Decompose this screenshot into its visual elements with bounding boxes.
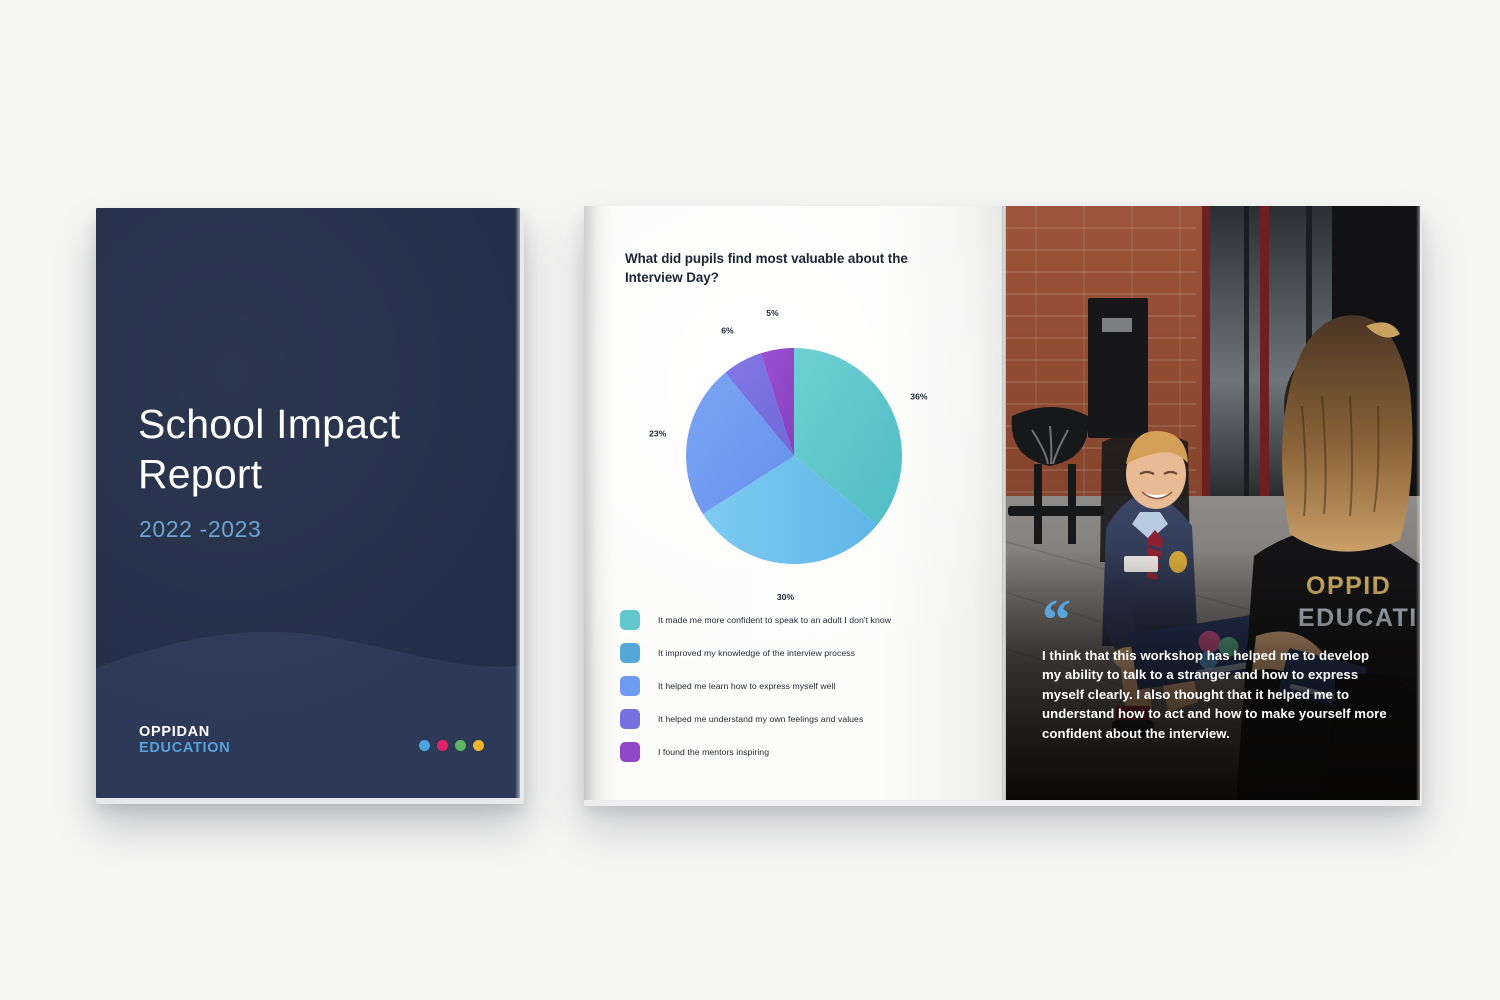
quote-mark-icon: “ xyxy=(1042,591,1069,649)
pie-value-label: 5% xyxy=(766,308,779,318)
legend-item: It improved my knowledge of the intervie… xyxy=(620,637,970,669)
legend-label: It helped me understand my own feelings … xyxy=(658,714,863,724)
cover-years: 2022 -2023 xyxy=(139,516,261,543)
legend-item: It helped me understand my own feelings … xyxy=(620,703,970,735)
legend-item: It made me more confident to speak to an… xyxy=(620,604,970,636)
pie-slices xyxy=(686,348,902,564)
legend-swatch xyxy=(620,742,640,762)
brand-dots xyxy=(419,740,484,751)
dot-pink xyxy=(437,740,448,751)
legend-label: It helped me learn how to express myself… xyxy=(658,681,836,691)
cover-title: School Impact Report xyxy=(138,400,468,499)
legend-swatch xyxy=(620,676,640,696)
legend-swatch xyxy=(620,643,640,663)
cover-wave-decoration xyxy=(96,608,520,798)
legend-label: It improved my knowledge of the intervie… xyxy=(658,648,855,658)
chart-title: What did pupils find most valuable about… xyxy=(625,250,947,287)
pie-chart-svg: 36%30%23%6%5% xyxy=(644,306,944,606)
legend-swatch xyxy=(620,709,640,729)
report-spread[interactable]: What did pupils find most valuable about… xyxy=(584,206,1420,800)
legend-swatch xyxy=(620,610,640,630)
legend-item: I found the mentors inspiring xyxy=(620,736,970,768)
legend-label: I found the mentors inspiring xyxy=(658,747,769,757)
pie-value-label: 6% xyxy=(721,325,734,335)
chart-legend: It made me more confident to speak to an… xyxy=(620,604,970,769)
report-cover[interactable]: School Impact Report 2022 -2023 OPPIDAN … xyxy=(96,208,520,798)
chart-page: What did pupils find most valuable about… xyxy=(584,206,1002,800)
svg-text:EDUCATI: EDUCATI xyxy=(1298,604,1418,632)
page-binding-curl xyxy=(584,206,610,800)
mockup-stage: School Impact Report 2022 -2023 OPPIDAN … xyxy=(0,0,1500,1000)
pie-value-label: 23% xyxy=(649,429,667,439)
legend-item: It helped me learn how to express myself… xyxy=(620,670,970,702)
pie-chart: 36%30%23%6%5% xyxy=(644,306,944,606)
oppidan-logo: OPPIDAN EDUCATION xyxy=(139,724,230,756)
photo-page: OPPID EDUCATI “ I think that this worksh… xyxy=(1006,206,1420,800)
dot-yellow xyxy=(473,740,484,751)
dot-green xyxy=(455,740,466,751)
logo-line-education: EDUCATION xyxy=(139,740,230,756)
logo-line-oppidan: OPPIDAN xyxy=(139,724,230,740)
dot-blue xyxy=(419,740,430,751)
pie-value-label: 36% xyxy=(910,391,928,401)
pie-value-label: 30% xyxy=(777,592,795,602)
legend-label: It made me more confident to speak to an… xyxy=(658,615,891,625)
svg-text:OPPID: OPPID xyxy=(1306,572,1391,600)
pupil-quote: I think that this workshop has helped me… xyxy=(1042,646,1390,743)
